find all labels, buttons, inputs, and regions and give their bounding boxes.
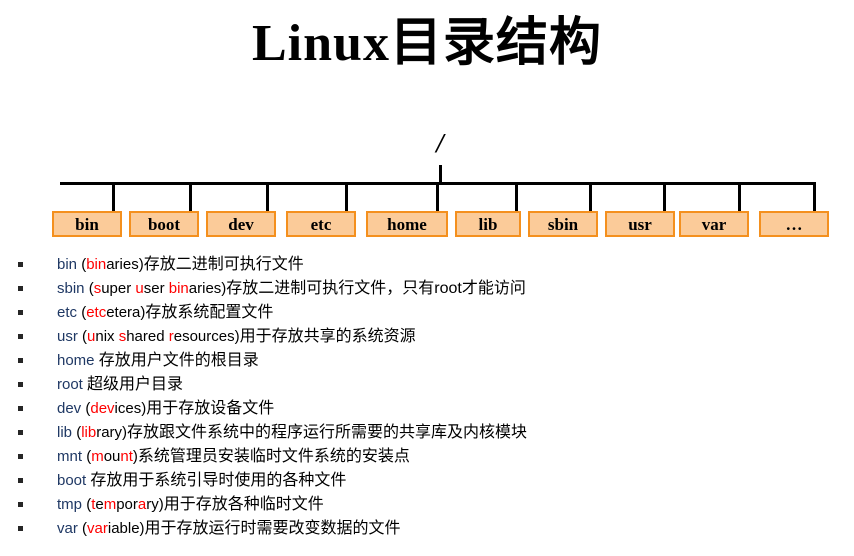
tree-connector-dev bbox=[266, 182, 269, 214]
bullet-dot-icon bbox=[18, 262, 23, 267]
text-segment: m bbox=[104, 496, 117, 513]
list-item-text-tmp: tmp (temporary)用于存放各种临时文件 bbox=[57, 493, 324, 517]
list-item: root 超级用户目录 bbox=[0, 373, 854, 397]
text-segment: esources) bbox=[174, 328, 240, 345]
tree-node-dev[interactable]: dev bbox=[206, 211, 276, 237]
tree-node-label: boot bbox=[148, 216, 180, 233]
list-item: lib (library)存放跟文件系统中的程序运行所需要的共享库及内核模块 bbox=[0, 421, 854, 445]
text-segment: mnt bbox=[57, 448, 86, 465]
text-segment: 存放二进制可执行文件 bbox=[144, 256, 304, 273]
text-segment: boot bbox=[57, 472, 90, 489]
tree-root-label: / bbox=[424, 130, 456, 157]
tree-connector-usr bbox=[663, 182, 666, 214]
text-segment: sbin bbox=[57, 280, 89, 297]
text-segment: lib bbox=[81, 424, 96, 441]
bullet-dot-icon bbox=[18, 382, 23, 387]
list-item-text-lib: lib (library)存放跟文件系统中的程序运行所需要的共享库及内核模块 bbox=[57, 421, 527, 445]
text-segment: usr bbox=[57, 328, 82, 345]
text-segment: etera) bbox=[106, 304, 145, 321]
tree-node-label: lib bbox=[479, 216, 498, 233]
text-segment: home bbox=[57, 352, 99, 369]
text-segment: dev bbox=[57, 400, 85, 417]
list-item: boot 存放用于系统引导时使用的各种文件 bbox=[0, 469, 854, 493]
bullet-dot-icon bbox=[18, 310, 23, 315]
bullet-dot-icon bbox=[18, 526, 23, 531]
text-segment: rary) bbox=[96, 424, 127, 441]
directory-tree-diagram: / binbootdevetchomelibsbinusrvar… bbox=[0, 130, 854, 245]
text-segment: 存放系统配置文件 bbox=[145, 304, 273, 321]
text-segment: bin bbox=[169, 280, 189, 297]
text-segment: dev bbox=[90, 400, 114, 417]
text-segment: 存放用户文件的根目录 bbox=[99, 352, 259, 369]
text-segment: por bbox=[116, 496, 138, 513]
text-segment: u bbox=[135, 280, 143, 297]
text-segment: a bbox=[138, 496, 146, 513]
text-segment: ry) bbox=[146, 496, 164, 513]
bullet-dot-icon bbox=[18, 478, 23, 483]
list-item-text-home: home 存放用户文件的根目录 bbox=[57, 349, 259, 373]
text-segment: m bbox=[91, 448, 104, 465]
list-item-text-root: root 超级用户目录 bbox=[57, 373, 183, 397]
tree-connector-lib bbox=[515, 182, 518, 214]
list-item: home 存放用户文件的根目录 bbox=[0, 349, 854, 373]
list-item-text-dev: dev (devices)用于存放设备文件 bbox=[57, 397, 274, 421]
tree-connector-bin bbox=[112, 182, 115, 214]
list-item: var (variable)用于存放运行时需要改变数据的文件 bbox=[0, 517, 854, 541]
list-item: mnt (mount)系统管理员安装临时文件系统的安装点 bbox=[0, 445, 854, 469]
tree-connector-etc bbox=[345, 182, 348, 214]
tree-node-label: var bbox=[702, 216, 727, 233]
text-segment: bin bbox=[57, 256, 81, 273]
text-segment: var bbox=[87, 520, 108, 537]
tree-node-home[interactable]: home bbox=[366, 211, 448, 237]
text-segment: 存放二进制可执行文件，只有root才能访问 bbox=[226, 280, 526, 297]
tree-node-label: dev bbox=[228, 216, 254, 233]
text-segment: bin bbox=[86, 256, 106, 273]
text-segment: aries) bbox=[106, 256, 144, 273]
text-segment: etc bbox=[57, 304, 81, 321]
tree-node-var[interactable]: var bbox=[679, 211, 749, 237]
bullet-dot-icon bbox=[18, 502, 23, 507]
text-segment: e bbox=[95, 496, 103, 513]
tree-node-sbin[interactable]: sbin bbox=[528, 211, 598, 237]
text-segment: ices) bbox=[115, 400, 147, 417]
tree-connector-sbin bbox=[589, 182, 592, 214]
text-segment: 超级用户目录 bbox=[87, 376, 183, 393]
tree-node-label: home bbox=[387, 216, 427, 233]
text-segment: root bbox=[57, 376, 87, 393]
text-segment: 用于存放设备文件 bbox=[146, 400, 274, 417]
list-item-text-mnt: mnt (mount)系统管理员安装临时文件系统的安装点 bbox=[57, 445, 410, 469]
text-segment: etc bbox=[86, 304, 106, 321]
text-segment: hared bbox=[126, 328, 169, 345]
text-segment: 存放用于系统引导时使用的各种文件 bbox=[90, 472, 346, 489]
text-segment: uper bbox=[101, 280, 135, 297]
tree-node-label: … bbox=[786, 216, 803, 233]
text-segment: 用于存放运行时需要改变数据的文件 bbox=[145, 520, 401, 537]
text-segment: iable) bbox=[108, 520, 145, 537]
tree-node-boot[interactable]: boot bbox=[129, 211, 199, 237]
tree-root-stem bbox=[439, 165, 442, 183]
list-item-text-usr: usr (unix shared resources)用于存放共享的系统资源 bbox=[57, 325, 416, 349]
list-item: etc (etcetera)存放系统配置文件 bbox=[0, 301, 854, 325]
tree-node-label: bin bbox=[75, 216, 99, 233]
page-title: Linux目录结构 bbox=[0, 14, 854, 74]
tree-connector-boot bbox=[189, 182, 192, 214]
tree-node-label: usr bbox=[628, 216, 652, 233]
bullet-dot-icon bbox=[18, 358, 23, 363]
tree-connector-var bbox=[738, 182, 741, 214]
bullet-dot-icon bbox=[18, 406, 23, 411]
list-item-text-boot: boot 存放用于系统引导时使用的各种文件 bbox=[57, 469, 346, 493]
text-segment: 存放跟文件系统中的程序运行所需要的共享库及内核模块 bbox=[127, 424, 527, 441]
list-item-text-etc: etc (etcetera)存放系统配置文件 bbox=[57, 301, 273, 325]
bullet-dot-icon bbox=[18, 286, 23, 291]
list-item: dev (devices)用于存放设备文件 bbox=[0, 397, 854, 421]
list-item-text-bin: bin (binaries)存放二进制可执行文件 bbox=[57, 253, 304, 277]
text-segment: nix bbox=[95, 328, 118, 345]
list-item-text-sbin: sbin (super user binaries)存放二进制可执行文件，只有r… bbox=[57, 277, 526, 301]
text-segment: aries) bbox=[189, 280, 227, 297]
text-segment: ser bbox=[144, 280, 169, 297]
tree-connector-home bbox=[436, 182, 439, 214]
tree-node-lib[interactable]: lib bbox=[455, 211, 521, 237]
tree-connector-… bbox=[813, 182, 816, 214]
text-segment: var bbox=[57, 520, 82, 537]
text-segment: nt bbox=[120, 448, 133, 465]
list-item-text-var: var (variable)用于存放运行时需要改变数据的文件 bbox=[57, 517, 401, 541]
text-segment: 系统管理员安装临时文件系统的安装点 bbox=[138, 448, 410, 465]
tree-node-etc[interactable]: etc bbox=[286, 211, 356, 237]
list-item: usr (unix shared resources)用于存放共享的系统资源 bbox=[0, 325, 854, 349]
bullet-dot-icon bbox=[18, 454, 23, 459]
list-item: tmp (temporary)用于存放各种临时文件 bbox=[0, 493, 854, 517]
text-segment: ou bbox=[104, 448, 121, 465]
bullet-dot-icon bbox=[18, 334, 23, 339]
list-item: sbin (super user binaries)存放二进制可执行文件，只有r… bbox=[0, 277, 854, 301]
tree-node-usr[interactable]: usr bbox=[605, 211, 675, 237]
tree-node-…[interactable]: … bbox=[759, 211, 829, 237]
bullet-dot-icon bbox=[18, 430, 23, 435]
directory-description-list: bin (binaries)存放二进制可执行文件sbin (super user… bbox=[0, 253, 854, 541]
text-segment: lib bbox=[57, 424, 76, 441]
tree-node-label: etc bbox=[311, 216, 332, 233]
text-segment: tmp bbox=[57, 496, 86, 513]
tree-node-bin[interactable]: bin bbox=[52, 211, 122, 237]
text-segment: 用于存放共享的系统资源 bbox=[240, 328, 416, 345]
list-item: bin (binaries)存放二进制可执行文件 bbox=[0, 253, 854, 277]
tree-node-label: sbin bbox=[548, 216, 578, 233]
text-segment: 用于存放各种临时文件 bbox=[164, 496, 324, 513]
